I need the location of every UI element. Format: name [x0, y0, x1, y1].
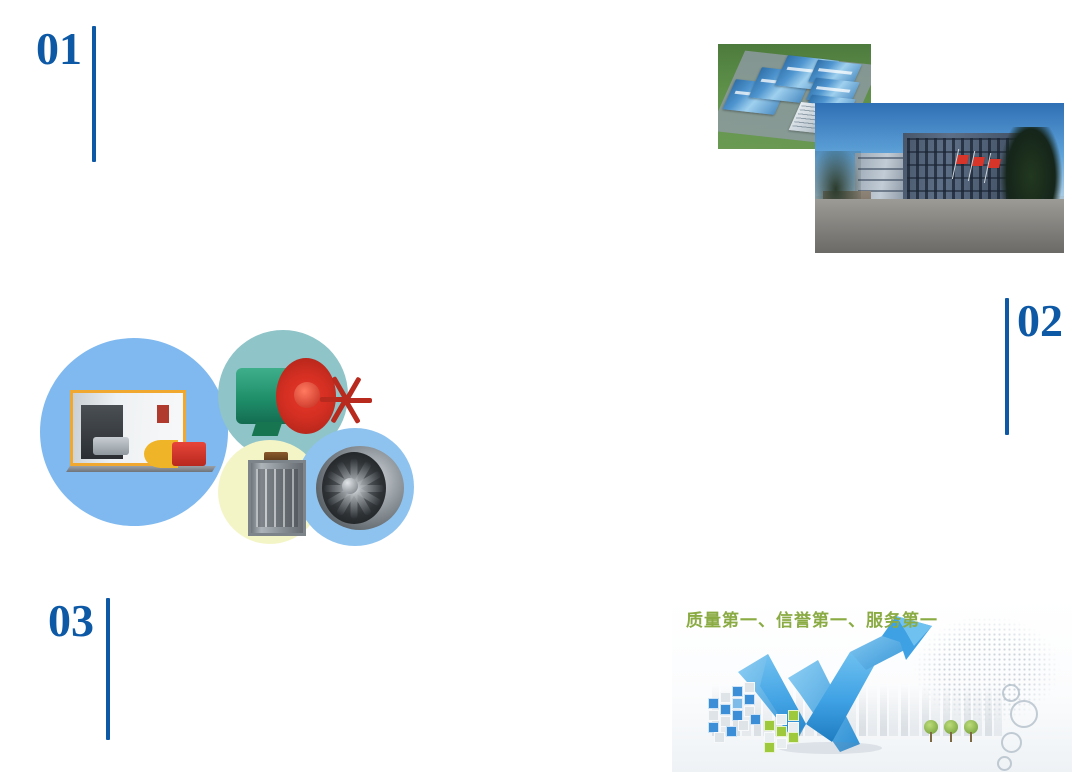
tree-icon — [924, 720, 938, 742]
section-number-02: 02 — [1017, 298, 1063, 344]
bubble-ring-icon — [1001, 732, 1022, 753]
section-rule-03 — [106, 598, 110, 740]
section-number-03: 03 — [48, 598, 94, 644]
product-air-damper-filter — [248, 460, 306, 536]
office-building-photo — [815, 103, 1064, 253]
tree-icon — [964, 720, 978, 742]
rubik-cube-blue-icon — [708, 682, 770, 744]
rubik-cube-green-icon — [764, 710, 806, 752]
ahu-control-panel — [157, 405, 169, 423]
damper-frame — [248, 460, 306, 536]
bubble-ring-icon — [997, 756, 1012, 771]
ahu-motor — [172, 442, 206, 466]
product-air-handling-cabinet-fan — [66, 382, 216, 492]
ahu-fan-wheel — [93, 437, 129, 455]
tree-icon — [944, 720, 958, 742]
growth-arrow-banner: 质量第一、信誉第一、服务第一 — [672, 598, 1072, 772]
flag-icon — [972, 157, 985, 166]
flag-icon — [956, 155, 969, 164]
section-rule-01 — [92, 26, 96, 162]
section-marker-01: 01 — [36, 26, 96, 162]
banner-slogan: 质量第一、信誉第一、服务第一 — [686, 606, 938, 631]
product-axial-flow-fan — [236, 354, 336, 446]
product-mixed-flow-fan — [316, 446, 404, 530]
section-marker-03: 03 — [48, 598, 110, 740]
bubble-ring-icon — [1010, 700, 1038, 728]
product-photo-cluster — [28, 320, 428, 560]
section-number-01: 01 — [36, 26, 82, 72]
section-rule-02 — [1005, 298, 1009, 435]
tree-group-icon — [924, 720, 978, 742]
section-marker-02: 02 — [1005, 298, 1063, 435]
bubble-ring-icon — [1002, 684, 1020, 702]
photo-ground — [815, 199, 1064, 253]
mixed-fan-nose-cone — [342, 478, 358, 494]
slide-canvas: 01 02 03 — [0, 0, 1074, 772]
axial-fan-foot — [252, 422, 283, 436]
ahu-inlet-opening — [81, 405, 123, 459]
damper-slats — [256, 469, 298, 527]
axial-fan-hub — [294, 382, 320, 408]
ahu-base-frame — [66, 466, 216, 472]
